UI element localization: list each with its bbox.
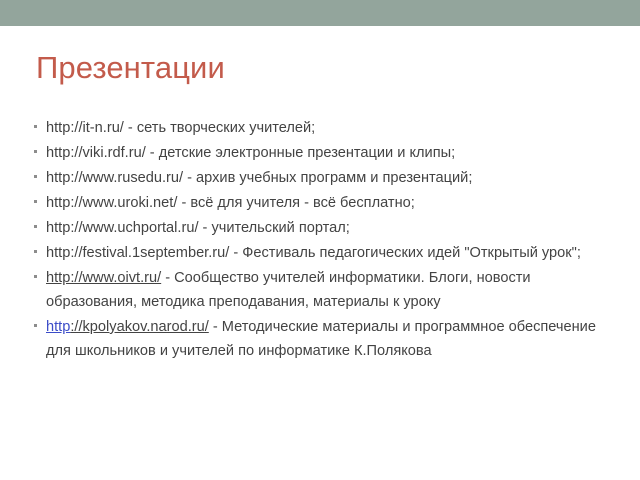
list-item: http://www.rusedu.ru/ - архив учебных пр… [32, 166, 610, 190]
bullet-marker-icon [34, 275, 37, 278]
list-item: http://www.uroki.net/ - всё для учителя … [32, 191, 610, 215]
bullet-marker-icon [34, 250, 37, 253]
list-item-kpolyakov: http://kpolyakov.narod.ru/ - Методически… [32, 315, 610, 363]
bullet-marker-icon [34, 225, 37, 228]
list-item-label: http://viki.rdf.ru/ - детские электронны… [46, 141, 610, 165]
page-title: Презентации [36, 50, 225, 86]
link-oivt[interactable]: http://www.oivt.ru/ [46, 270, 161, 286]
list-item-content: http://kpolyakov.narod.ru/ - Методически… [46, 315, 610, 363]
list-item: http://it-n.ru/ - сеть творческих учител… [32, 116, 610, 140]
list-item: http://viki.rdf.ru/ - детские электронны… [32, 141, 610, 165]
bullet-marker-icon [34, 125, 37, 128]
list-item-label: http://www.uroki.net/ - всё для учителя … [46, 191, 610, 215]
bullet-marker-icon [34, 200, 37, 203]
bullet-marker-icon [34, 150, 37, 153]
slide-top-band [0, 0, 640, 26]
list-item-label: http://www.uchportal.ru/ - учительский п… [46, 216, 610, 240]
list-item-content: http://www.oivt.ru/ - Сообщество учителе… [46, 266, 610, 314]
list-item: http://festival.1september.ru/ - Фестива… [32, 241, 610, 265]
list-item-label: http://festival.1september.ru/ - Фестива… [46, 241, 610, 265]
bullet-marker-icon [34, 324, 37, 327]
list-item-label: http://it-n.ru/ - сеть творческих учител… [46, 116, 610, 140]
link-kpolyakov-host[interactable]: ://kpolyakov.narod.ru/ [70, 319, 208, 335]
bullet-marker-icon [34, 175, 37, 178]
presentation-slide: Презентации http://it-n.ru/ - сеть творч… [0, 0, 640, 480]
list-item-label: http://www.rusedu.ru/ - архив учебных пр… [46, 166, 610, 190]
list-item-oivt: http://www.oivt.ru/ - Сообщество учителе… [32, 266, 610, 314]
link-kpolyakov-protocol[interactable]: http [46, 319, 70, 335]
list-item: http://www.uchportal.ru/ - учительский п… [32, 216, 610, 240]
links-bullet-list: http://it-n.ru/ - сеть творческих учител… [32, 116, 610, 364]
